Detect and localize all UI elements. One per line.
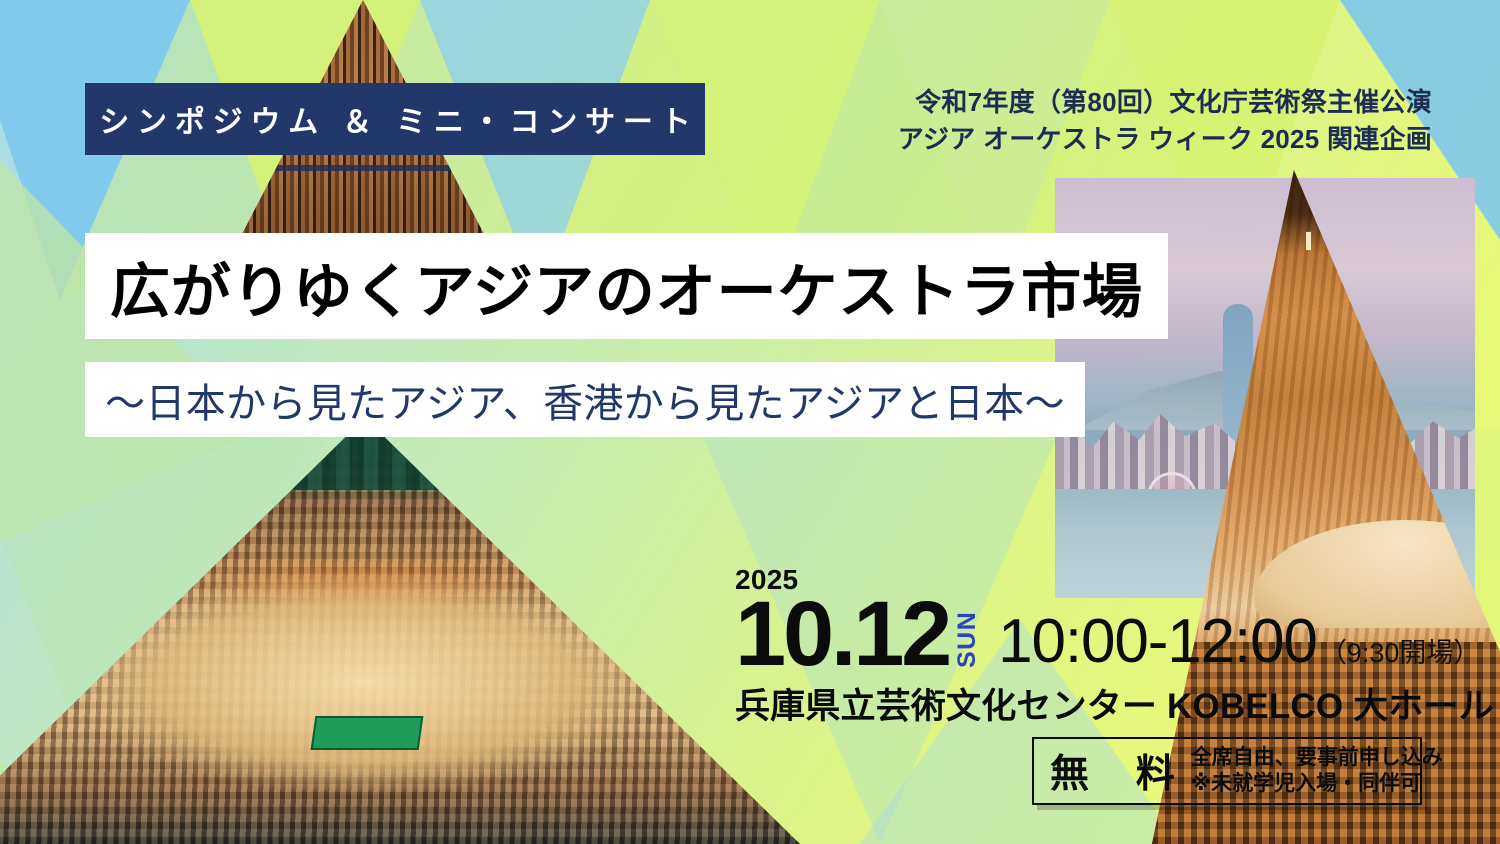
- admission-notes: 全席自由、要事前申し込み ※未就学児入場・同伴可: [1191, 745, 1443, 798]
- event-type-label: シンポジウム ＆ ミニ・コンサート: [91, 97, 698, 141]
- event-type-band: シンポジウム ＆ ミニ・コンサート: [85, 83, 705, 155]
- subtitle-band: 〜日本から見たアジア、香港から見たアジアと日本〜: [85, 362, 1085, 437]
- admission-note-1: 全席自由、要事前申し込み: [1191, 745, 1443, 771]
- time-row: 10:00-12:00 （9:30開場）: [998, 611, 1480, 673]
- date-weekday: SUN: [955, 596, 980, 668]
- date-row: 10.12 SUN 10:00-12:00 （9:30開場）: [735, 596, 1480, 673]
- event-time: 10:00-12:00: [998, 611, 1317, 673]
- admission-box: 無 料 全席自由、要事前申し込み ※未就学児入場・同伴可: [1032, 737, 1422, 805]
- admission-price: 無 料: [1034, 743, 1191, 799]
- event-poster: シンポジウム ＆ ミニ・コンサート 令和7年度（第80回）文化庁芸術祭主催公演 …: [0, 0, 1500, 844]
- presenter-line-1: 令和7年度（第80回）文化庁芸術祭主催公演: [898, 84, 1432, 121]
- doors-open-time: （9:30開場）: [1320, 631, 1481, 670]
- presenter-credit: 令和7年度（第80回）文化庁芸術祭主催公演 アジア オーケストラ ウィーク 20…: [898, 84, 1432, 158]
- date-day: 10.12: [735, 596, 949, 673]
- poster-title: 広がりゆくアジアのオーケストラ市場: [110, 244, 1143, 329]
- venue-name: 兵庫県立芸術文化センター KOBELCO 大ホール: [735, 678, 1494, 729]
- date-time-block: 2025 10.12 SUN 10:00-12:00 （9:30開場）: [735, 566, 1480, 673]
- presenter-line-2: アジア オーケストラ ウィーク 2025 関連企画: [898, 121, 1432, 158]
- admission-note-2: ※未就学児入場・同伴可: [1191, 771, 1443, 797]
- title-band: 広がりゆくアジアのオーケストラ市場: [85, 233, 1168, 339]
- poster-subtitle: 〜日本から見たアジア、香港から見たアジアと日本〜: [105, 371, 1065, 429]
